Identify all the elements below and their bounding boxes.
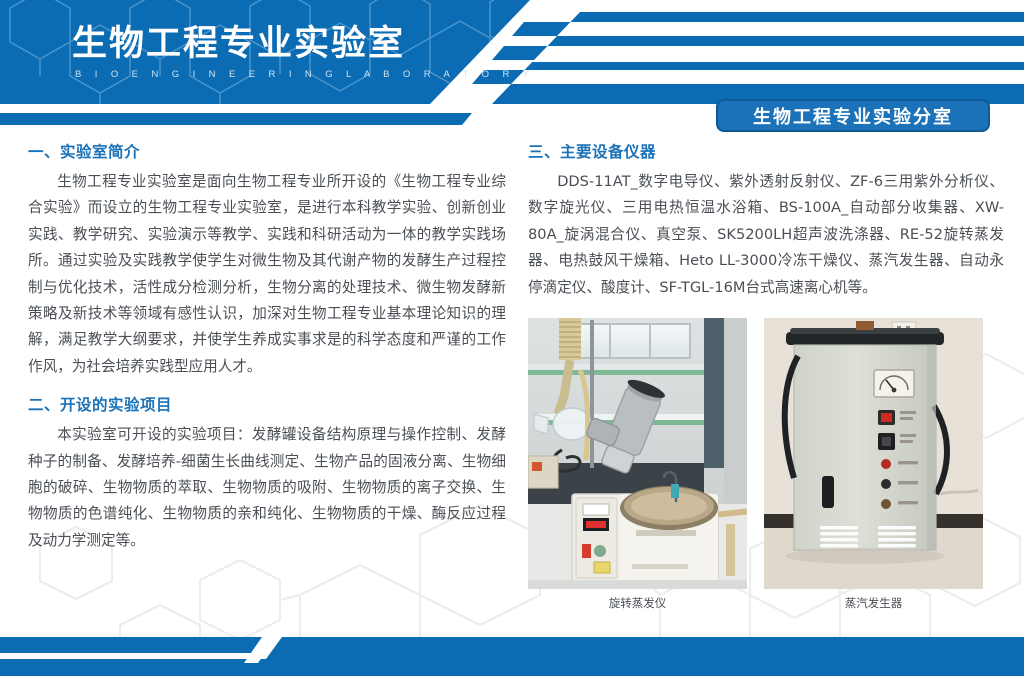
photo-item: 蒸汽发生器 (764, 318, 983, 611)
intro-paragraph: 生物工程专业实验室是面向生物工程专业所开设的《生物工程专业综合实验》而设立的生物… (28, 169, 506, 380)
page-header: 生物工程专业实验室 B I O E N G I N E E R I N G L … (0, 0, 1024, 104)
projects-heading: 二、开设的实验项目 (28, 393, 506, 415)
intro-heading: 一、实验室简介 (28, 140, 506, 162)
section-badge: 生物工程专业实验分室 (716, 99, 990, 132)
page-content: 一、实验室简介 生物工程专业实验室是面向生物工程专业所开设的《生物工程专业综合实… (0, 140, 1024, 610)
photo-item: 旋转蒸发仪 (528, 318, 747, 611)
steam-generator-photo (764, 318, 983, 589)
equipment-paragraph: DDS-11AT_数字电导仪、紫外透射反射仪、ZF-6三用紫外分析仪、数字旋光仪… (528, 169, 1004, 301)
left-column: 一、实验室简介 生物工程专业实验室是面向生物工程专业所开设的《生物工程专业综合实… (28, 140, 506, 554)
equipment-heading: 三、主要设备仪器 (528, 140, 1004, 162)
section-badge-label: 生物工程专业实验分室 (753, 103, 953, 129)
page-footer (0, 637, 1024, 676)
photo-caption: 旋转蒸发仪 (528, 595, 747, 611)
photo-gallery: 旋转蒸发仪 (528, 318, 1004, 608)
page-title: 生物工程专业实验室 (72, 22, 534, 66)
footer-diagonal-decoration (0, 637, 1024, 676)
header-title-block: 生物工程专业实验室 B I O E N G I N E E R I N G L … (72, 22, 534, 80)
right-column: 三、主要设备仪器 DDS-11AT_数字电导仪、紫外透射反射仪、ZF-6三用紫外… (528, 140, 1004, 301)
rotary-evaporator-photo (528, 318, 747, 589)
photo-caption: 蒸汽发生器 (764, 595, 983, 611)
page-subtitle-english: B I O E N G I N E E R I N G L A B O R A … (72, 69, 534, 80)
projects-paragraph: 本实验室可开设的实验项目：发酵罐设备结构原理与操作控制、发酵种子的制备、发酵培养… (28, 422, 506, 554)
